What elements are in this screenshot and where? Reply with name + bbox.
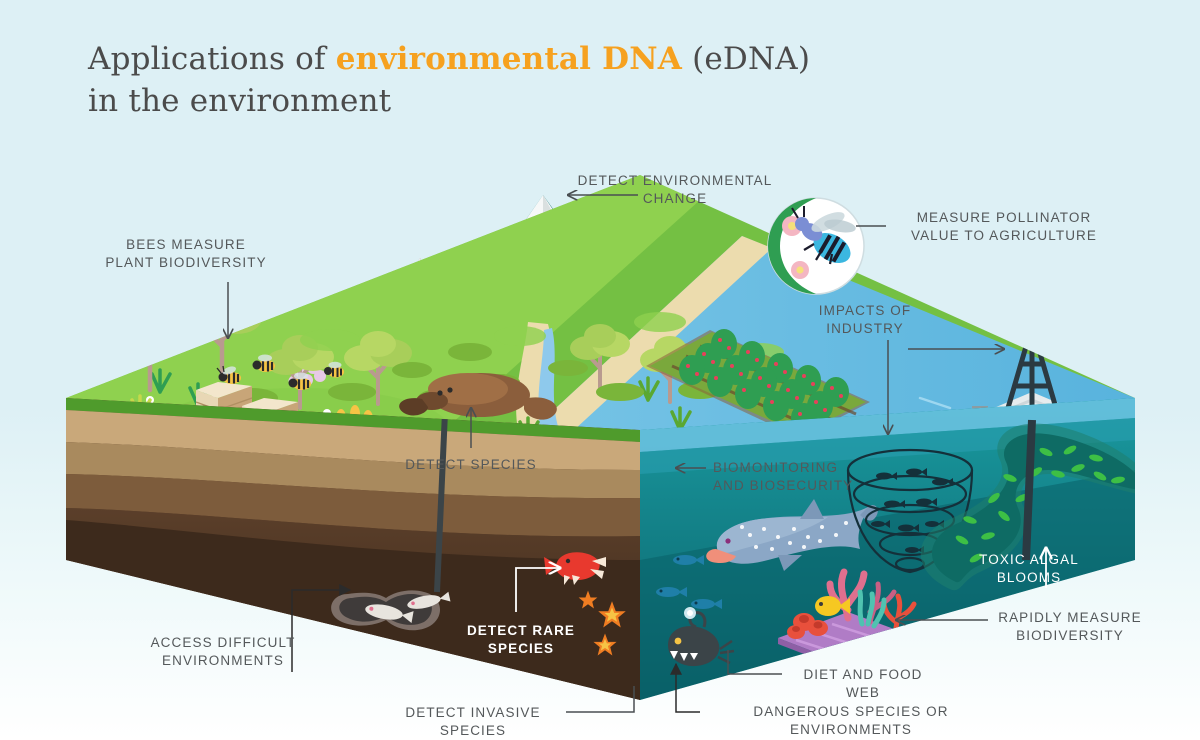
callout-bees-measure-plant-biodiversity: BEES MEASURE PLANT BIODIVERSITY <box>86 236 286 272</box>
infographic-canvas: Applications of environmental DNA (eDNA)… <box>0 0 1200 740</box>
callout-dangerous-species-or-environments: DANGEROUS SPECIES OR ENVIRONMENTS <box>706 703 996 739</box>
callout-measure-pollinator-value: MEASURE POLLINATOR VALUE TO AGRICULTURE <box>894 209 1114 245</box>
callout-detect-invasive-species: DETECT INVASIVE SPECIES <box>378 704 568 740</box>
pollinator-inset <box>768 198 864 294</box>
callout-rapidly-measure-biodiversity: RAPIDLY MEASURE BIODIVERSITY <box>990 609 1150 645</box>
callout-access-difficult-environments: ACCESS DIFFICULT ENVIRONMENTS <box>128 634 318 670</box>
callout-detect-environmental-change: DETECT ENVIRONMENTAL CHANGE <box>560 172 790 208</box>
callout-diet-and-food-web: DIET AND FOOD WEB <box>788 666 938 702</box>
callout-impacts-of-industry: IMPACTS OF INDUSTRY <box>800 302 930 338</box>
callout-detect-species: DETECT SPECIES <box>391 456 551 474</box>
callout-biomonitoring-and-biosecurity: BIOMONITORING AND BIOSECURITY <box>713 459 913 495</box>
callout-toxic-algal-blooms: TOXIC ALGAL BLOOMS <box>959 551 1099 587</box>
callout-detect-rare-species: DETECT RARE SPECIES <box>446 622 596 658</box>
